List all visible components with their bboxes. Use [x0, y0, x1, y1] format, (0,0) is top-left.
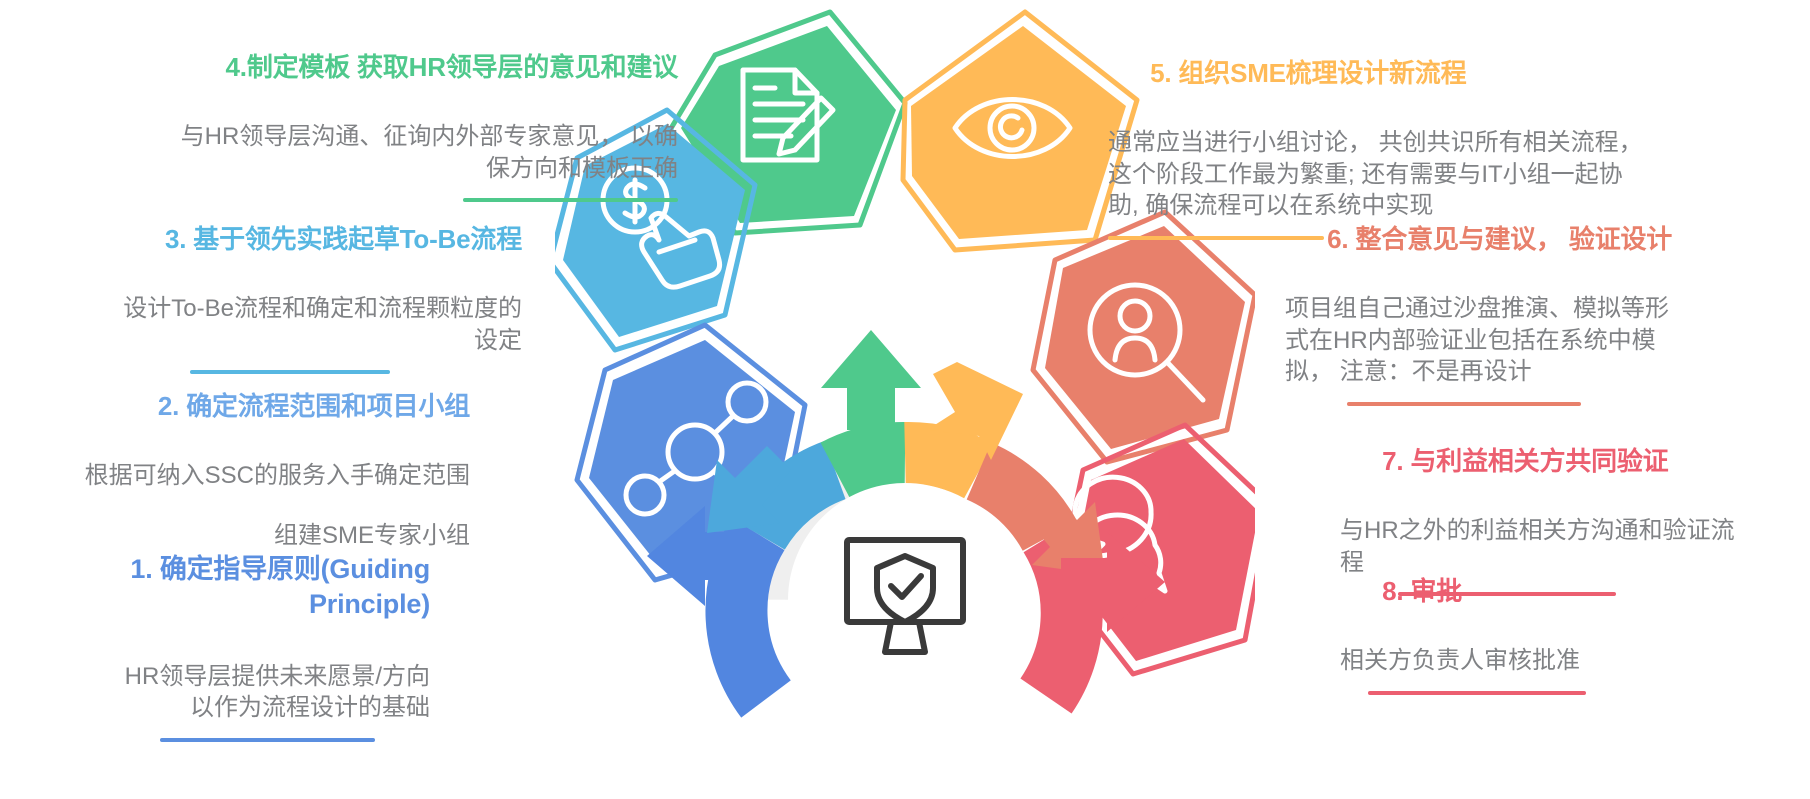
callout-6-rule [1347, 402, 1581, 406]
callout-step-6: 6. 整合意见与建议， 验证设计 项目组自己通过沙盘推演、模拟等形 式在HR内部… [1285, 188, 1795, 406]
infographic-canvas: 4.制定模板 获取HR领导层的意见和建议 与HR领导层沟通、征询内外部专家意见，… [0, 0, 1810, 794]
callout-2-number: 2. [158, 391, 186, 421]
callout-3-number: 3. [165, 224, 193, 254]
callout-7-title: 7. 与利益相关方共同验证 [1340, 410, 1810, 513]
callout-8-title: 8. 审批 [1340, 540, 1810, 643]
pentagon-eye[interactable] [903, 12, 1137, 250]
callout-8-rule [1368, 691, 1586, 695]
callout-2-heading: 确定流程范围和项目小组 [186, 391, 470, 421]
callout-1-heading: 确定指导原则(Guiding Principle) [160, 554, 437, 620]
callout-step-3: 3. 基于领先实践起草To-Be流程 设计To-Be流程和确定和流程颗粒度的 设… [14, 188, 522, 374]
callout-8-number: 8. [1382, 576, 1410, 606]
callout-1-rule [160, 738, 375, 742]
callout-3-title: 3. 基于领先实践起草To-Be流程 [14, 188, 522, 291]
callout-5-title: 5. 组织SME梳理设计新流程 [1108, 22, 1688, 125]
callout-4-body: 与HR领导层沟通、征询内外部专家意见， 以确 保方向和模板正确 [118, 121, 678, 184]
callout-4-number: 4. [226, 52, 247, 82]
callout-3-heading: 基于领先实践起草To-Be流程 [193, 224, 522, 254]
callout-5-heading: 组织SME梳理设计新流程 [1178, 58, 1466, 88]
center-disc [788, 483, 1022, 717]
callout-step-8: 8. 审批 相关方负责人审核批准 [1340, 540, 1810, 695]
callout-7-number: 7. [1382, 446, 1410, 476]
callout-4-title: 4.制定模板 获取HR领导层的意见和建议 [118, 16, 678, 119]
callout-2-title: 2. 确定流程范围和项目小组 [0, 355, 470, 458]
callout-6-heading: 整合意见与建议， 验证设计 [1355, 224, 1672, 254]
callout-1-body: HR领导层提供未来愿景/方向 以作为流程设计的基础 [0, 661, 430, 724]
callout-4-heading: 制定模板 获取HR领导层的意见和建议 [247, 52, 678, 82]
pentagon-search[interactable] [1033, 212, 1255, 462]
callout-1-number: 1. [130, 554, 159, 584]
callout-6-title: 6. 整合意见与建议， 验证设计 [1285, 188, 1795, 291]
callout-8-heading: 审批 [1410, 576, 1462, 606]
callout-2-body: 根据可纳入SSC的服务入手确定范围 [0, 460, 470, 492]
callout-3-body: 设计To-Be流程和确定和流程颗粒度的 设定 [14, 293, 522, 356]
callout-5-number: 5. [1150, 58, 1178, 88]
callout-8-body: 相关方负责人审核批准 [1340, 645, 1810, 677]
callout-7-heading: 与利益相关方共同验证 [1410, 446, 1668, 476]
callout-step-4: 4.制定模板 获取HR领导层的意见和建议 与HR领导层沟通、征询内外部专家意见，… [118, 16, 678, 202]
callout-6-body: 项目组自己通过沙盘推演、模拟等形 式在HR内部验证业包括在系统中模 拟， 注意：… [1285, 293, 1795, 388]
callout-1-title: 1. 确定指导原则(Guiding Principle) [0, 516, 430, 659]
callout-step-1: 1. 确定指导原则(Guiding Principle) HR领导层提供未来愿景… [0, 516, 430, 742]
callout-6-number: 6. [1327, 224, 1355, 254]
